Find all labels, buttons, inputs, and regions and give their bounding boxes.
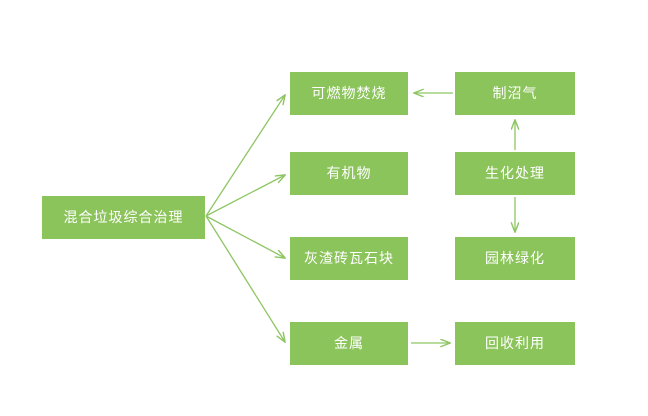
node-ash-bricks-tiles-stones[interactable]: 灰渣砖瓦石块 <box>290 237 408 280</box>
node-landscape-greening[interactable]: 园林绿化 <box>455 237 575 280</box>
node-combustible-incineration[interactable]: 可燃物焚烧 <box>290 72 408 115</box>
node-recycling-reuse[interactable]: 回收利用 <box>455 322 575 365</box>
edge-source-to-burn <box>206 95 285 216</box>
node-label: 金属 <box>334 337 364 351</box>
edge-source-to-metal <box>206 216 285 342</box>
edge-source-to-organic <box>206 175 285 216</box>
diagram-canvas: 混合垃圾综合治理 可燃物焚烧 有机物 灰渣砖瓦石块 金属 制沼气 生化处理 园林… <box>0 0 648 416</box>
node-label: 灰渣砖瓦石块 <box>304 252 394 266</box>
node-label: 混合垃圾综合治理 <box>64 211 184 225</box>
node-organic-matter[interactable]: 有机物 <box>290 152 408 195</box>
node-label: 园林绿化 <box>485 252 545 266</box>
node-label: 制沼气 <box>493 87 538 101</box>
node-metal[interactable]: 金属 <box>290 322 408 365</box>
node-label: 回收利用 <box>485 337 545 351</box>
node-mixed-waste-treatment[interactable]: 混合垃圾综合治理 <box>42 196 205 239</box>
node-biochemical-treatment[interactable]: 生化处理 <box>455 152 575 195</box>
node-biogas-production[interactable]: 制沼气 <box>455 72 575 115</box>
edge-source-to-ash <box>206 216 285 258</box>
node-label: 生化处理 <box>485 167 545 181</box>
node-label: 有机物 <box>327 167 372 181</box>
node-label: 可燃物焚烧 <box>312 87 387 101</box>
